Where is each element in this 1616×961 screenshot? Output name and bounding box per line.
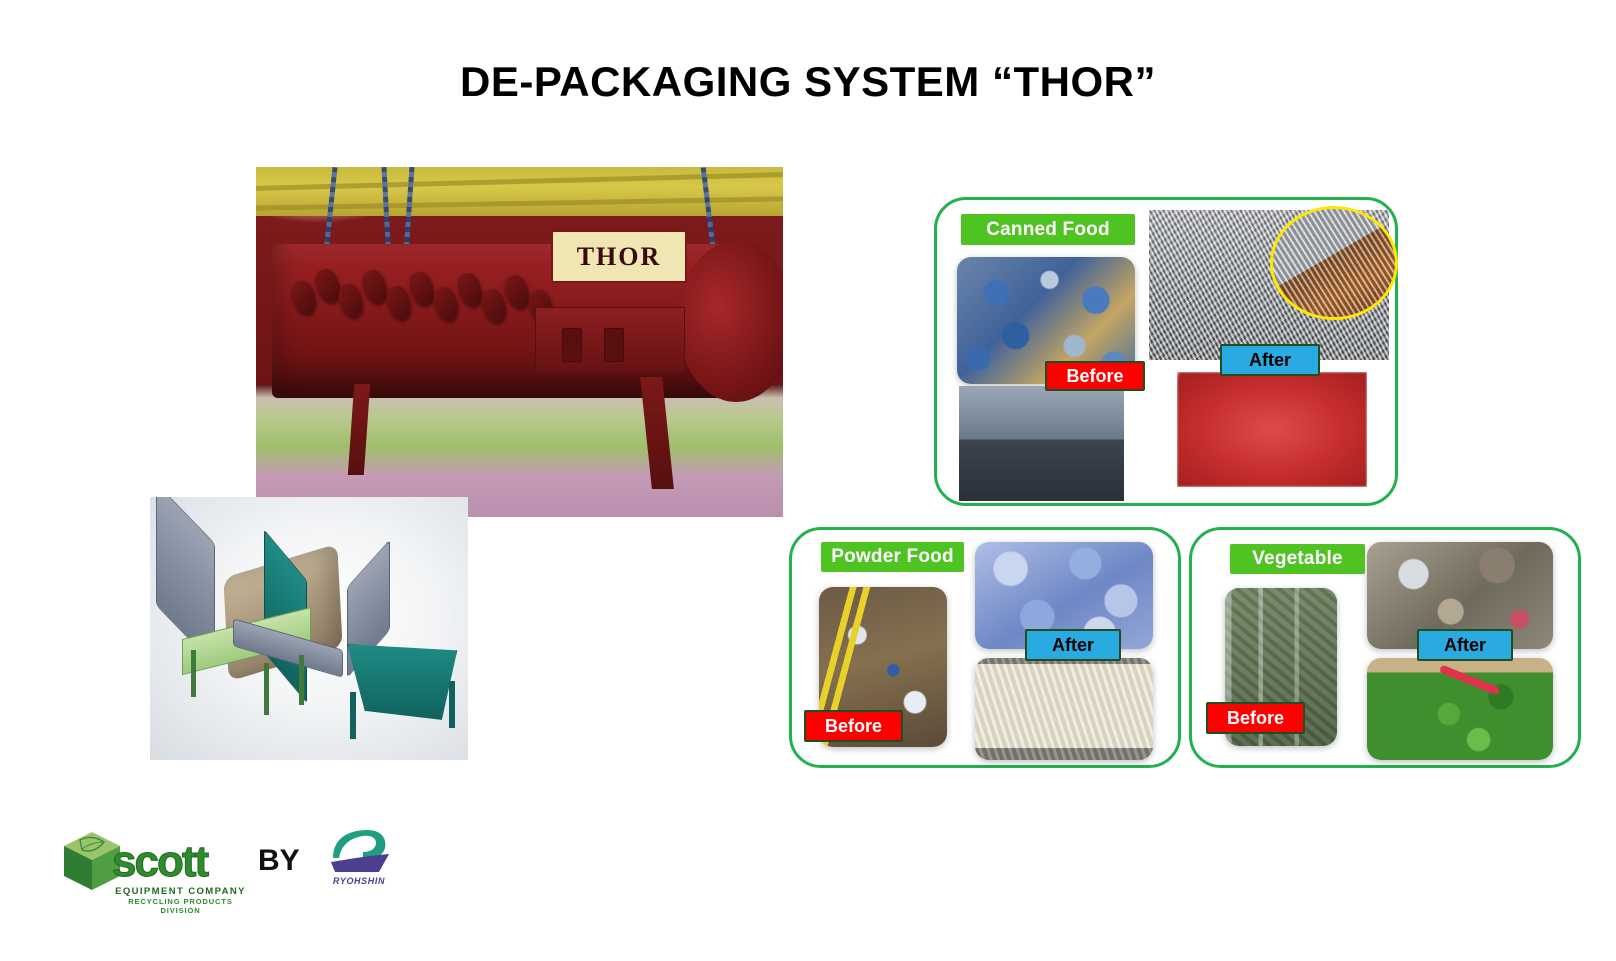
drum-end-cap bbox=[678, 241, 783, 402]
page-title: DE-PACKAGING SYSTEM “THOR” bbox=[0, 58, 1616, 106]
scott-equipment-logo: scott EQUIPMENT COMPANY RECYCLING PRODUC… bbox=[62, 824, 247, 900]
powder-after-powder-image bbox=[975, 658, 1153, 760]
cad-hopper bbox=[347, 644, 457, 720]
footer-logos: scott EQUIPMENT COMPANY RECYCLING PRODUC… bbox=[62, 818, 402, 908]
category-label-powder-food: Powder Food bbox=[821, 542, 964, 572]
ryohshin-wordmark: RYOHSHIN bbox=[317, 876, 401, 886]
panel-powder-food: Powder Food Before After bbox=[789, 527, 1181, 768]
panel-vegetable: Vegetable Before After bbox=[1189, 527, 1581, 768]
ryohshin-r-mark-icon bbox=[323, 826, 393, 874]
panel-canned-food: Canned Food Before After bbox=[934, 197, 1398, 506]
paddle-shaft bbox=[288, 258, 552, 335]
category-label-canned-food: Canned Food bbox=[961, 214, 1135, 245]
badge-before-vegetable: Before bbox=[1206, 702, 1305, 734]
canned-after-sauce-image bbox=[1177, 372, 1367, 487]
scott-wordmark: scott bbox=[112, 840, 207, 884]
badge-before-powder: Before bbox=[804, 710, 903, 742]
thor-machine-photo: THOR bbox=[256, 167, 783, 517]
canned-before-machine-image bbox=[959, 386, 1124, 501]
badge-before-canned: Before bbox=[1045, 361, 1145, 391]
badge-after-canned: After bbox=[1220, 344, 1320, 376]
slide-canvas: DE-PACKAGING SYSTEM “THOR” THOR bbox=[0, 0, 1616, 961]
scott-tagline-line1: EQUIPMENT COMPANY bbox=[114, 886, 247, 897]
vegetable-after-greens-image bbox=[1367, 658, 1553, 760]
ryohshin-logo: RYOHSHIN bbox=[317, 824, 401, 900]
badge-after-vegetable: After bbox=[1417, 629, 1513, 661]
category-label-vegetable: Vegetable bbox=[1230, 544, 1365, 574]
badge-after-powder: After bbox=[1025, 629, 1121, 661]
thor-cad-render bbox=[150, 497, 468, 760]
scott-tagline-line2: RECYCLING PRODUCTS DIVISION bbox=[114, 897, 247, 915]
zoom-callout-ellipse bbox=[1270, 206, 1398, 320]
by-text: BY bbox=[258, 844, 300, 878]
thor-nameplate: THOR bbox=[551, 230, 687, 283]
